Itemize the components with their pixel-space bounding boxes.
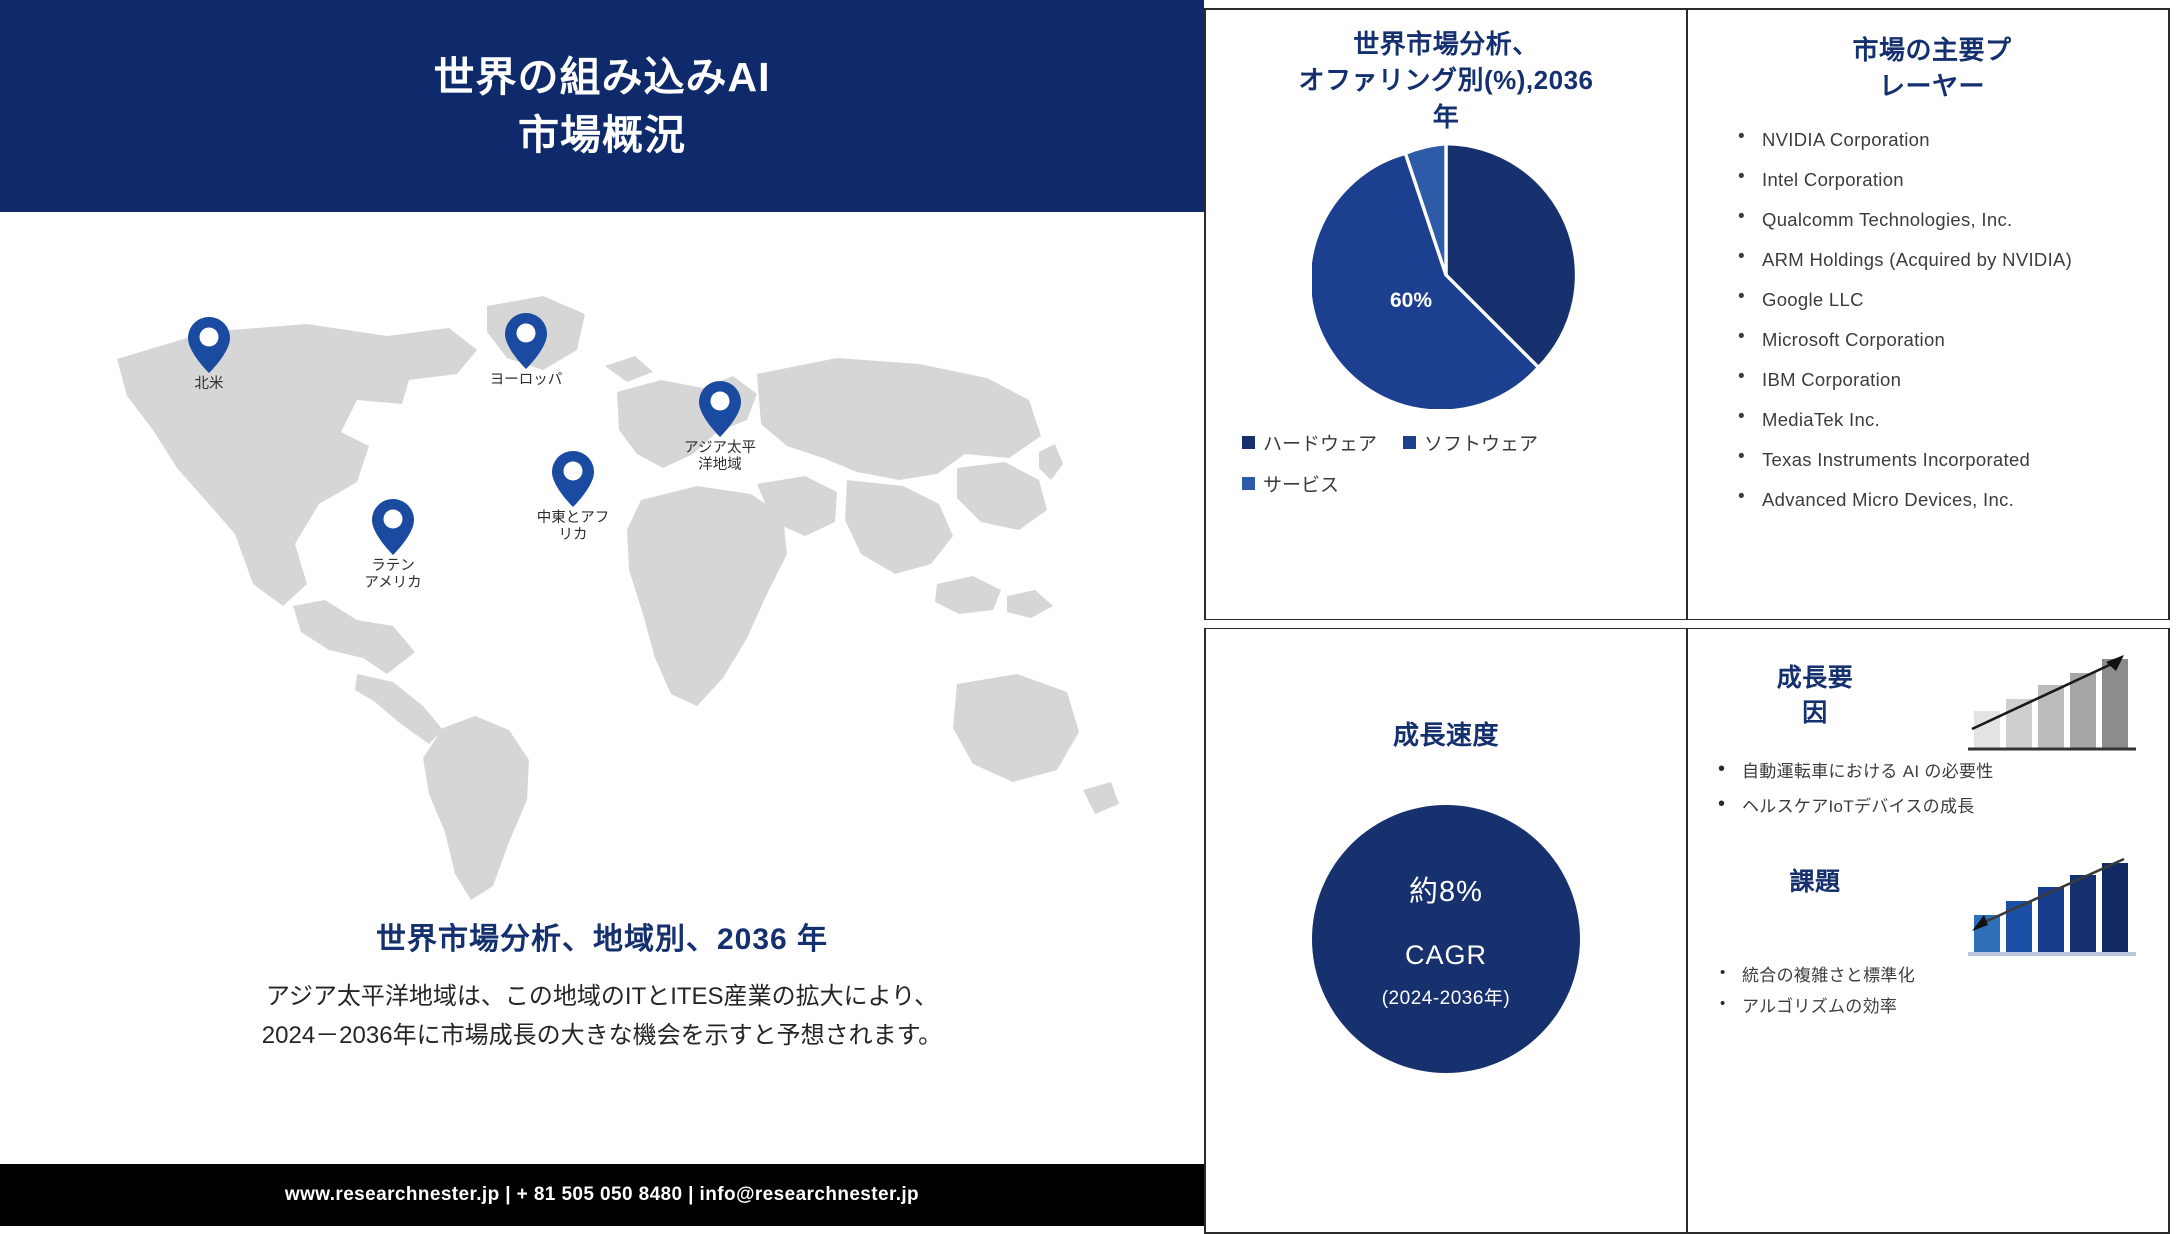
map-pin-label: 中東とアフリカ [527, 510, 619, 545]
list-item: IBM Corporation [1736, 371, 2150, 390]
challenges-bar-chart-icon [1924, 849, 2150, 961]
map-pin-icon [371, 498, 415, 556]
page-title-line2: 市場概況 [518, 106, 686, 164]
cagr-circle: 約8% CAGR (2024-2036年) [1312, 805, 1580, 1073]
list-item: アルゴリズムの効率 [1712, 998, 2150, 1015]
growth-rate-title: 成長速度 [1393, 717, 1499, 753]
offering-pie-title: 世界市場分析、オファリング別(%),2036年 [1299, 26, 1594, 135]
pie-slice-label: 60% [1390, 289, 1432, 313]
footer-bar: www.researchnester.jp | + 81 505 050 848… [0, 1164, 1204, 1226]
legend-swatch-icon [1242, 477, 1255, 490]
left-panel: 世界の組み込みAI 市場概況 [0, 0, 1204, 1226]
drivers-challenges-panel: 成長要因 自動運転車における AI の必要性 [1687, 628, 2170, 1234]
offering-pie-panel: 世界市場分析、オファリング別(%),2036年 60% ハードウェア ソフト [1204, 8, 1687, 620]
infographic-page: 世界の組み込みAI 市場概況 [0, 0, 2184, 1226]
list-item: ARM Holdings (Acquired by NVIDIA) [1736, 251, 2150, 270]
legend-label: ソフトウェア [1424, 429, 1538, 456]
map-pin-north-america[interactable]: 北米 [173, 316, 245, 393]
growth-drivers-block: 成長要因 [1706, 645, 2150, 757]
map-pin-europe[interactable]: ヨーロッパ [490, 312, 562, 389]
map-pin-label: 北米 [163, 376, 255, 393]
legend-label: ハードウェア [1263, 429, 1377, 456]
list-item: Qualcomm Technologies, Inc. [1736, 211, 2150, 230]
map-pin-label: ヨーロッパ [480, 372, 572, 389]
list-item: Advanced Micro Devices, Inc. [1736, 491, 2150, 510]
growth-bar-chart-icon [1924, 645, 2150, 757]
cagr-percent: 約8% [1409, 868, 1483, 910]
list-item: Google LLC [1736, 291, 2150, 310]
growth-drivers-heading: 成長要因 [1706, 645, 1924, 731]
ascending-bars-gray-icon [1966, 649, 2138, 757]
list-item: ヘルスケアIoTデバイスの成長 [1712, 798, 2150, 815]
list-item: Texas Instruments Incorporated [1736, 451, 2150, 470]
legend-label: サービス [1263, 470, 1339, 497]
map-pin-latin-america[interactable]: ラテンアメリカ [357, 498, 429, 593]
offering-pie-chart: 60% [1312, 141, 1580, 409]
right-panel-grid: 世界市場分析、オファリング別(%),2036年 60% ハードウェア ソフト [1204, 0, 2184, 1226]
cagr-period: (2024-2036年) [1382, 983, 1511, 1010]
map-pin-asia-pacific[interactable]: アジア太平洋地域 [684, 380, 756, 475]
map-pin-label: アジア太平洋地域 [674, 440, 766, 475]
legend-item-services[interactable]: サービス [1242, 470, 1339, 497]
title-bar: 世界の組み込みAI 市場概況 [0, 0, 1204, 212]
page-title-line1: 世界の組み込みAI [434, 48, 771, 106]
legend-swatch-icon [1242, 436, 1255, 449]
map-pin-label: ラテンアメリカ [347, 558, 439, 593]
growth-drivers-list: 自動運転車における AI の必要性 ヘルスケアIoTデバイスの成長 [1706, 763, 2150, 833]
key-players-panel: 市場の主要プレーヤー NVIDIA Corporation Intel Corp… [1687, 8, 2170, 620]
list-item: NVIDIA Corporation [1736, 131, 2150, 150]
region-analysis-description: アジア太平洋地域は、この地域のITとITES産業の拡大により、2024－2036… [142, 978, 1062, 1056]
list-item: Intel Corporation [1736, 171, 2150, 190]
footer-contact-text: www.researchnester.jp | + 81 505 050 848… [285, 1184, 919, 1206]
challenges-heading: 課題 [1706, 849, 1924, 900]
list-item: MediaTek Inc. [1736, 411, 2150, 430]
map-pin-middle-east-africa[interactable]: 中東とアフリカ [537, 450, 609, 545]
legend-item-hardware[interactable]: ハードウェア [1242, 429, 1377, 456]
region-analysis-heading: 世界市場分析、地域別、2036 年 [376, 914, 828, 958]
map-pin-icon [504, 312, 548, 370]
pie-svg [1312, 141, 1580, 409]
cagr-metric-label: CAGR [1405, 940, 1487, 971]
map-pin-icon [187, 316, 231, 374]
ascending-bars-blue-icon [1966, 853, 2138, 961]
map-pin-icon [698, 380, 742, 438]
list-item: Microsoft Corporation [1736, 331, 2150, 350]
challenges-list: 統合の複雑さと標準化 アルゴリズムの効率 [1706, 967, 2150, 1029]
list-item: 自動運転車における AI の必要性 [1712, 763, 2150, 780]
key-players-title: 市場の主要プレーヤー [1714, 32, 2150, 105]
world-map: 北米 ヨーロッパ アジア太平洋地域 [57, 254, 1147, 904]
list-item: 統合の複雑さと標準化 [1712, 967, 2150, 984]
key-players-list: NVIDIA Corporation Intel Corporation Qua… [1714, 131, 2150, 510]
legend-swatch-icon [1403, 436, 1416, 449]
legend-item-software[interactable]: ソフトウェア [1403, 429, 1538, 456]
challenges-block: 課題 [1706, 849, 2150, 961]
pie-legend: ハードウェア ソフトウェア サービス [1232, 429, 1660, 497]
challenges-title: 課題 [1706, 865, 1924, 900]
map-pin-icon [551, 450, 595, 508]
map-section: 北米 ヨーロッパ アジア太平洋地域 [0, 212, 1204, 1164]
growth-rate-panel: 成長速度 約8% CAGR (2024-2036年) [1204, 628, 1687, 1234]
growth-drivers-title: 成長要因 [1706, 661, 1924, 731]
